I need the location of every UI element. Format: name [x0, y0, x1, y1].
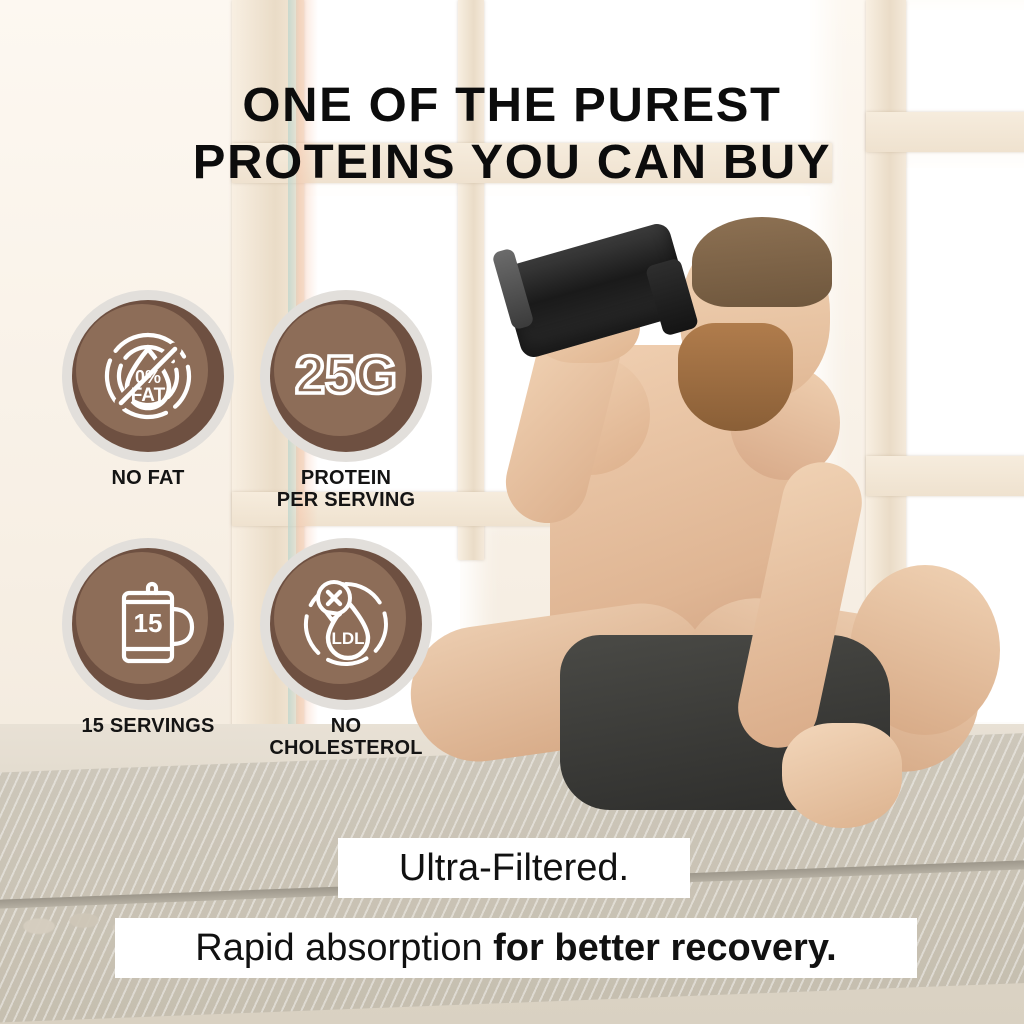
badge-no-fat: 0% FAT NO FAT: [64, 300, 232, 490]
badge-icon-text-top: 25G: [295, 345, 397, 405]
no-fat-droplet-icon: 0% FAT: [93, 321, 203, 431]
badge-icon-text-top: 15: [134, 608, 163, 638]
caption-secondary: Rapid absorption for better recovery.: [115, 918, 917, 978]
product-marketing-image: ONE OF THE PUREST PROTEINS YOU CAN BUY 0…: [0, 0, 1024, 1024]
badge-label-line-1: PROTEIN: [262, 468, 430, 490]
shaker-cup-icon: 15: [93, 569, 203, 679]
badge-label-line-1: NO: [262, 716, 430, 738]
beard: [678, 323, 793, 431]
headline-line-2: PROTEINS YOU CAN BUY: [0, 135, 1024, 192]
badge-label: NO FAT: [64, 468, 232, 490]
page-title: ONE OF THE PUREST PROTEINS YOU CAN BUY: [0, 78, 1024, 191]
badge-label-line-2: PER SERVING: [262, 490, 430, 512]
badge-circle: 15: [72, 548, 224, 700]
caption-secondary-text: Rapid absorption for better recovery.: [195, 927, 836, 970]
badge-icon-text-bottom: FAT: [131, 385, 166, 406]
badge-servings: 15 15 SERVINGS: [64, 548, 232, 738]
badge-no-cholesterol: LDL NO CHOLESTEROL: [262, 548, 430, 759]
no-ldl-droplet-icon: LDL: [290, 568, 402, 680]
caption-primary: Ultra-Filtered.: [338, 838, 690, 898]
badge-icon-text-top: 0%: [135, 367, 161, 387]
badge-label-line-2: CHOLESTEROL: [262, 738, 430, 760]
badge-circle: 25G: [270, 300, 422, 452]
hand-resting: [782, 723, 902, 828]
badge-label: 15 SERVINGS: [64, 716, 232, 738]
badge-label: PROTEIN PER SERVING: [262, 468, 430, 511]
caption-secondary-bold: for better recovery.: [493, 927, 837, 969]
badge-label: NO CHOLESTEROL: [262, 716, 430, 759]
protein-grams-icon: 25G: [286, 321, 406, 431]
caption-primary-text: Ultra-Filtered.: [399, 847, 629, 890]
badge-protein-per-serving: 25G PROTEIN PER SERVING: [262, 300, 430, 511]
badge-circle: LDL: [270, 548, 422, 700]
subject-figure: [430, 215, 1024, 915]
badge-circle: 0% FAT: [72, 300, 224, 452]
badge-icon-text-top: LDL: [331, 629, 364, 648]
headline-line-1: ONE OF THE PUREST: [0, 78, 1024, 135]
hair: [692, 217, 832, 307]
caption-secondary-regular: Rapid absorption: [195, 927, 493, 969]
